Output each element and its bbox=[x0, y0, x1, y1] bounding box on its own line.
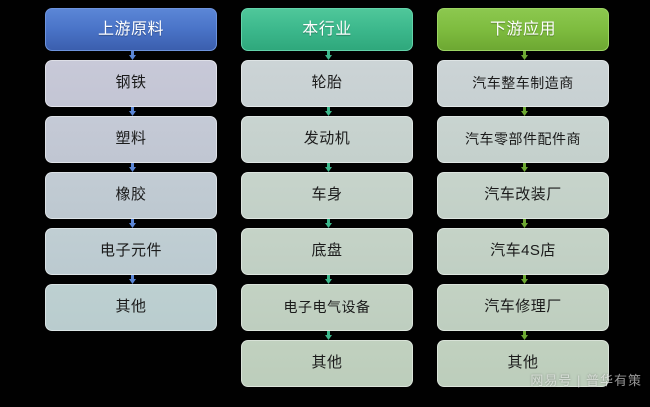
node-upstream-2[interactable]: 橡胶 bbox=[45, 172, 217, 219]
arrow-down-icon bbox=[325, 163, 332, 172]
arrow-down-icon bbox=[129, 219, 136, 228]
node-upstream-1[interactable]: 塑料 bbox=[45, 116, 217, 163]
node-downstream-4[interactable]: 汽车修理厂 bbox=[437, 284, 609, 331]
arrow-down-icon bbox=[129, 275, 136, 284]
arrow-down-icon bbox=[325, 107, 332, 116]
arrow-down-icon bbox=[325, 219, 332, 228]
node-upstream-3[interactable]: 电子元件 bbox=[45, 228, 217, 275]
column-upstream: 上游原料 钢铁 塑料 橡胶 电子元件 其他 bbox=[45, 0, 217, 407]
column-header-downstream[interactable]: 下游应用 bbox=[437, 8, 609, 51]
arrow-down-icon bbox=[521, 275, 528, 284]
node-downstream-0[interactable]: 汽车整车制造商 bbox=[437, 60, 609, 107]
arrow-down-icon bbox=[325, 331, 332, 340]
arrow-down-icon bbox=[129, 107, 136, 116]
watermark: 网易号 | 普华有策 bbox=[530, 370, 642, 389]
arrow-down-icon bbox=[521, 51, 528, 60]
arrow-down-icon bbox=[521, 107, 528, 116]
arrow-down-icon bbox=[521, 219, 528, 228]
arrow-down-icon bbox=[521, 163, 528, 172]
industry-chain-diagram: 上游原料 钢铁 塑料 橡胶 电子元件 其他 本行业 轮胎 发动机 车身 底盘 电… bbox=[0, 0, 650, 407]
node-industry-3[interactable]: 底盘 bbox=[241, 228, 413, 275]
node-industry-5[interactable]: 其他 bbox=[241, 340, 413, 387]
node-industry-0[interactable]: 轮胎 bbox=[241, 60, 413, 107]
node-downstream-1[interactable]: 汽车零部件配件商 bbox=[437, 116, 609, 163]
column-industry: 本行业 轮胎 发动机 车身 底盘 电子电气设备 其他 bbox=[241, 0, 413, 407]
arrow-down-icon bbox=[325, 51, 332, 60]
arrow-down-icon bbox=[129, 51, 136, 60]
node-downstream-3[interactable]: 汽车4S店 bbox=[437, 228, 609, 275]
arrow-down-icon bbox=[129, 163, 136, 172]
arrow-down-icon bbox=[521, 331, 528, 340]
node-industry-2[interactable]: 车身 bbox=[241, 172, 413, 219]
column-header-industry[interactable]: 本行业 bbox=[241, 8, 413, 51]
node-industry-4[interactable]: 电子电气设备 bbox=[241, 284, 413, 331]
node-upstream-4[interactable]: 其他 bbox=[45, 284, 217, 331]
arrow-down-icon bbox=[325, 275, 332, 284]
column-downstream: 下游应用 汽车整车制造商 汽车零部件配件商 汽车改装厂 汽车4S店 汽车修理厂 … bbox=[437, 0, 609, 407]
column-header-upstream[interactable]: 上游原料 bbox=[45, 8, 217, 51]
node-upstream-0[interactable]: 钢铁 bbox=[45, 60, 217, 107]
node-downstream-2[interactable]: 汽车改装厂 bbox=[437, 172, 609, 219]
node-industry-1[interactable]: 发动机 bbox=[241, 116, 413, 163]
